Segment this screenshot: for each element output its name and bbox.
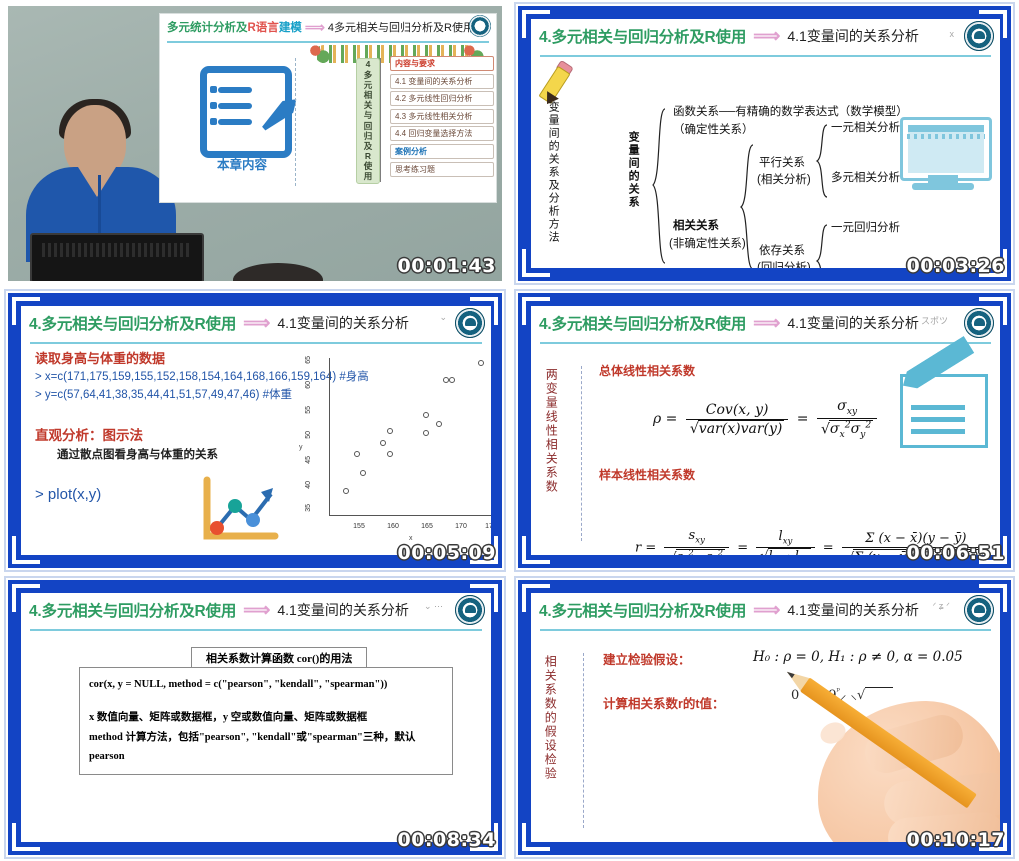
toc-list: 内容与要求 4.1 变量间的关系分析 4.2 多元线性回归分析 4.3 多元线性… — [390, 56, 494, 179]
scatter-explanation: 通过散点图看身高与体重的关系 — [57, 446, 218, 462]
video-frame[interactable]: 多元统计分析及R语言建模 ⟹ 4多元相关与回归分析及R使用 本章内容 4多 元相 — [8, 6, 502, 281]
plot-axes — [329, 358, 491, 516]
line-establish-hypothesis: 建立检验假设： — [603, 649, 691, 668]
projected-slide-title: 多元统计分析及R语言建模 — [167, 19, 302, 35]
chapter-contents-label: 本章内容 — [196, 154, 288, 173]
note-pen-icon — [900, 374, 988, 448]
slide-subtitle: 4.1变量间的关系分析 — [277, 600, 408, 620]
header-divider — [540, 342, 991, 344]
cor-param-x: x 数值向量、矩阵或数据框，y 空或数值向量、矩阵或数据框 — [89, 708, 443, 727]
diagram-leaf-2: 多元相关分析 — [831, 171, 900, 185]
cor-param-method: method 计算方法，包括"pearson", "kendall"或"spea… — [89, 728, 443, 767]
slide-subtitle: 4.1变量间的关系分析 — [277, 313, 408, 333]
list-item[interactable]: 4.2 多元线性回归分析 — [390, 91, 494, 106]
university-seal-icon — [964, 308, 994, 338]
vertical-divider — [583, 653, 584, 828]
diagram-root-label: 变量间的关系 — [627, 131, 639, 251]
side-vertical-label: 相关系数的假设检验 — [543, 655, 556, 842]
slide-divider — [295, 58, 296, 186]
university-seal-icon — [469, 15, 491, 37]
side-vertical-label: 变量间的关系及分析方法 — [547, 101, 559, 268]
arrow-icon: ⟹ — [753, 314, 780, 333]
heading-population-coefficient: 总体线性相关系数 — [599, 362, 695, 379]
slide-frame: 4.多元相关与回归分析及R使用 ⟹ 4.1变量间的关系分析 x 变量间的关系及分… — [518, 6, 1011, 281]
timestamp: 00:08:34 — [397, 829, 496, 851]
arrow-icon: ⟹ — [305, 19, 325, 36]
arrow-icon: ⟹ — [243, 314, 270, 333]
timestamp: 00:03:26 — [906, 255, 1005, 277]
list-item[interactable]: 内容与要求 — [390, 56, 494, 71]
slide-title: 4.多元相关与回归分析及R使用 — [29, 312, 236, 334]
slide-title: 4.多元相关与回归分析及R使用 — [29, 599, 236, 621]
slide-content: 4.多元相关与回归分析及R使用 ⟹ 4.1变量间的关系分析 x 变量间的关系及分… — [531, 19, 1000, 268]
side-vertical-label: 两变量线性相关系数 — [544, 368, 557, 555]
brace-4 — [815, 223, 829, 268]
section-heading-visual-analysis: 直观分析：图示法 — [35, 424, 143, 444]
vertical-divider — [581, 366, 582, 541]
slide-content: 4.多元相关与回归分析及R使用 ⟹ 4.1变量间的关系分析 ⌄ ⋯ 相关系数计算… — [21, 593, 491, 842]
panel-cor-function-usage[interactable]: 4.多元相关与回归分析及R使用 ⟹ 4.1变量间的关系分析 ⌄ ⋯ 相关系数计算… — [0, 574, 510, 861]
projected-slide: 多元统计分析及R语言建模 ⟹ 4多元相关与回归分析及R使用 本章内容 4多 元相 — [160, 14, 496, 202]
header-divider — [540, 55, 991, 57]
projected-slide-header: 多元统计分析及R语言建模 ⟹ 4多元相关与回归分析及R使用 — [160, 14, 496, 40]
projected-slide-subtitle: 4多元相关与回归分析及R使用 — [328, 19, 474, 35]
growth-chart-icon — [201, 476, 281, 546]
slide-body: 相关系数计算函数 cor()的用法 cor(x, y = NULL, metho… — [21, 633, 491, 842]
university-seal-icon — [455, 595, 485, 625]
slide-subtitle: 4.1变量间的关系分析 — [787, 313, 918, 333]
diagram-node-correlational-sub: (非确定性关系) — [669, 237, 746, 251]
slide-header: 4.多元相关与回归分析及R使用 ⟹ 4.1变量间的关系分析 x — [531, 19, 1000, 53]
timestamp: 00:05:09 — [397, 542, 496, 564]
diagram-node-correlational: 相关关系 — [673, 219, 719, 233]
diagram-body: 变量间的关系及分析方法 变量间的关系 函数关系──有精确的数学表达式（数学模型）… — [531, 59, 1000, 268]
slide-header: 4.多元相关与回归分析及R使用 ⟹ 4.1变量间的关系分析 ⌄ — [21, 306, 491, 340]
slide-subtitle: 4.1变量间的关系分析 — [787, 26, 918, 46]
code-line-y: > y=c(57,64,41,38,35,44,41,51,57,49,47,4… — [35, 386, 292, 402]
slide-content: 4.多元相关与回归分析及R使用 ⟹ 4.1变量间的关系分析 ᐟ ʑ ᐟ 相关系数… — [531, 593, 1000, 842]
panel-lecture-video[interactable]: 多元统计分析及R语言建模 ⟹ 4多元相关与回归分析及R使用 本章内容 4多 元相 — [0, 0, 510, 287]
slide-frame: 4.多元相关与回归分析及R使用 ⟹ 4.1变量间的关系分析 ⌄ ⋯ 相关系数计算… — [8, 580, 502, 855]
university-seal-icon — [964, 21, 994, 51]
diagram-node-parallel-sub: (相关分析) — [757, 173, 811, 187]
university-seal-icon — [455, 308, 485, 338]
list-item[interactable]: 4.3 多元线性相关分析 — [390, 109, 494, 124]
slide-title: 4.多元相关与回归分析及R使用 — [539, 25, 746, 47]
diagram-leaf-1: 一元相关分析 — [831, 121, 900, 135]
hand-with-pencil — [778, 657, 1000, 842]
slide-header: 4.多元相关与回归分析及R使用 ⟹ 4.1变量间的关系分析 スポツ — [531, 306, 1000, 340]
heading-sample-coefficient: 样本线性相关系数 — [599, 466, 695, 483]
scatter-plot: 65 60 55 50 45 40 35 y — [299, 352, 491, 542]
header-divider — [540, 629, 991, 631]
list-item[interactable]: 4.4 回归变量选择方法 — [390, 126, 494, 141]
panel-hypothesis-test[interactable]: 4.多元相关与回归分析及R使用 ⟹ 4.1变量间的关系分析 ᐟ ʑ ᐟ 相关系数… — [510, 574, 1019, 861]
arrow-icon: ⟹ — [753, 601, 780, 620]
cor-signature: cor(x, y = NULL, method = c("pearson", "… — [89, 675, 443, 694]
panel-variable-relationship-diagram[interactable]: 4.多元相关与回归分析及R使用 ⟹ 4.1变量间的关系分析 x 变量间的关系及分… — [510, 0, 1019, 287]
diagram-leaf-3: 一元回归分析 — [831, 221, 900, 235]
slide-content: 4.多元相关与回归分析及R使用 ⟹ 4.1变量间的关系分析 ⌄ 读取身高与体重的… — [21, 306, 491, 555]
podium-monitor — [30, 233, 204, 281]
timestamp: 00:10:17 — [906, 829, 1005, 851]
line-compute-t: 计算相关系数r的t值： — [603, 693, 725, 712]
diagram-node-dependent: 依存关系 — [759, 244, 805, 258]
list-item[interactable]: 案例分析 — [390, 144, 494, 159]
list-item[interactable]: 4.1 变量间的关系分析 — [390, 74, 494, 89]
pencil-icon — [541, 63, 581, 103]
slide-header: 4.多元相关与回归分析及R使用 ⟹ 4.1变量间的关系分析 ᐟ ʑ ᐟ — [531, 593, 1000, 627]
university-seal-icon — [964, 595, 994, 625]
slide-frame: 4.多元相关与回归分析及R使用 ⟹ 4.1变量间的关系分析 スポツ 两变量线性相… — [518, 293, 1011, 568]
brace-3 — [815, 123, 829, 201]
arrow-icon: ⟹ — [243, 601, 270, 620]
header-divider — [30, 342, 482, 344]
code-line-plot: > plot(x,y) — [35, 486, 101, 503]
list-item[interactable]: 思考练习题 — [390, 162, 494, 177]
chapter-title-bar: 4多 元相 关与 回归 及R 使用 — [356, 58, 380, 184]
panel-scatter-plot-demo[interactable]: 4.多元相关与回归分析及R使用 ⟹ 4.1变量间的关系分析 ⌄ 读取身高与体重的… — [0, 287, 510, 574]
slide-subtitle: 4.1变量间的关系分析 — [787, 600, 918, 620]
timestamp: 00:06:51 — [906, 542, 1005, 564]
slide-title: 4.多元相关与回归分析及R使用 — [539, 312, 746, 334]
slide-content: 4.多元相关与回归分析及R使用 ⟹ 4.1变量间的关系分析 スポツ 两变量线性相… — [531, 306, 1000, 555]
slide-title: 4.多元相关与回归分析及R使用 — [539, 599, 746, 621]
diagram-node-functional-sub: （确定性关系） — [673, 123, 754, 137]
slide-body: 两变量线性相关系数 总体线性相关系数 ρ = Cov(x, y)√var(x)v… — [531, 346, 1000, 555]
computer-monitor-icon — [900, 117, 986, 191]
slide-frame: 4.多元相关与回归分析及R使用 ⟹ 4.1变量间的关系分析 ⌄ 读取身高与体重的… — [8, 293, 502, 568]
video-thumbnail-grid: 多元统计分析及R语言建模 ⟹ 4多元相关与回归分析及R使用 本章内容 4多 元相 — [0, 0, 1019, 861]
panel-correlation-formula[interactable]: 4.多元相关与回归分析及R使用 ⟹ 4.1变量间的关系分析 スポツ 两变量线性相… — [510, 287, 1019, 574]
slide-body: 相关系数的假设检验 建立检验假设： H₀ : ρ = 0, H₁ : ρ ≠ 0… — [531, 633, 1000, 842]
cor-usage-table: cor(x, y = NULL, method = c("pearson", "… — [79, 667, 453, 775]
diagram-node-dependent-sub: (回归分析) — [757, 261, 811, 268]
slide-frame: 4.多元相关与回归分析及R使用 ⟹ 4.1变量间的关系分析 ᐟ ʑ ᐟ 相关系数… — [518, 580, 1011, 855]
arrow-icon: ⟹ — [753, 27, 780, 46]
cor-table-title: 相关系数计算函数 cor()的用法 — [191, 647, 367, 668]
brace-1 — [651, 107, 667, 267]
slide-header: 4.多元相关与回归分析及R使用 ⟹ 4.1变量间的关系分析 ⌄ ⋯ — [21, 593, 491, 627]
formula-rho: ρ = Cov(x, y)√var(x)var(y) = σxy√σx2σy2 — [653, 398, 881, 440]
diagram-node-functional: 函数关系──有精确的数学表达式（数学模型） — [673, 105, 908, 119]
timestamp: 00:01:43 — [397, 255, 496, 277]
header-divider — [30, 629, 482, 631]
slide-body: 读取身高与体重的数据 > x=c(171,175,159,155,152,158… — [21, 346, 491, 555]
diagram-node-parallel: 平行关系 — [759, 156, 805, 170]
brace-2 — [739, 143, 755, 268]
section-heading-read-data: 读取身高与体重的数据 — [35, 348, 165, 367]
